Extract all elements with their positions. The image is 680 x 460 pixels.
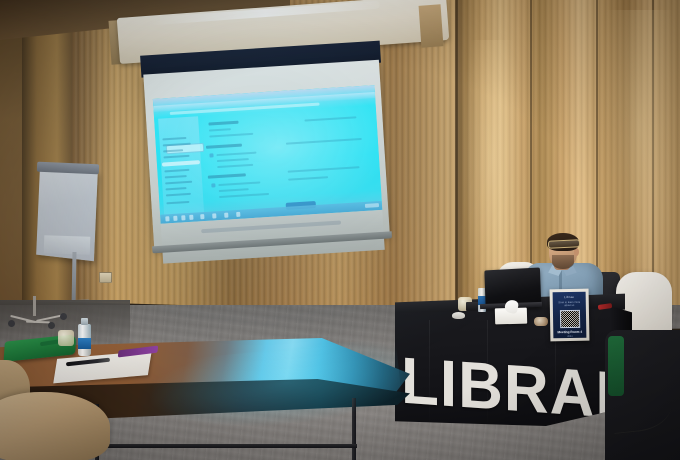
- candy-bowl: [534, 317, 548, 326]
- chair-base-arm: [26, 321, 50, 324]
- booth-banner-text: LIBRAE: [401, 349, 616, 430]
- checkbox[interactable]: [211, 183, 215, 187]
- qr-code-icon[interactable]: [559, 310, 579, 329]
- taskbar-app-icon[interactable]: [212, 213, 216, 218]
- qr-code-sign: Librae Scan to learn more about us Meeti…: [550, 289, 590, 342]
- eyeglasses-icon: [548, 239, 580, 249]
- conference-room-photo: LIBRAE Librae Scan to learn more about u…: [0, 0, 680, 460]
- chair-green-accent: [608, 336, 624, 396]
- qr-sign-face: Librae Scan to learn more about us Meeti…: [553, 292, 587, 339]
- computer-mouse[interactable]: [452, 312, 465, 319]
- table-rail: [95, 444, 357, 448]
- flipchart-sheet-fold: [44, 235, 91, 255]
- qr-sign-footer: 2024: [567, 335, 572, 338]
- chair-caster: [60, 313, 67, 320]
- taskbar-app-icon[interactable]: [200, 214, 204, 219]
- projection-screen: [140, 41, 392, 251]
- glass-jar: [58, 330, 74, 346]
- checkbox[interactable]: [209, 153, 213, 157]
- chair-caster: [8, 320, 15, 327]
- qr-sign-brand: Librae: [564, 295, 574, 299]
- presenter-beard: [552, 255, 574, 269]
- wall-power-socket[interactable]: [99, 272, 112, 283]
- qr-sign-caption: Meeting Room 4: [557, 330, 582, 334]
- chair-caster: [48, 322, 55, 329]
- taskbar-app-icon[interactable]: [173, 216, 177, 221]
- bottle-label: [78, 338, 91, 349]
- qr-sign-subtitle: Scan to learn more about us: [555, 301, 583, 308]
- screen-faint-text: [201, 220, 341, 233]
- taskbar-app-icon[interactable]: [189, 215, 193, 220]
- taskbar-clock[interactable]: [365, 203, 379, 208]
- taskbar-start-icon[interactable]: [165, 216, 169, 221]
- office-chair-base: [8, 312, 68, 326]
- taskbar-app-icon[interactable]: [236, 212, 240, 217]
- projected-image: [153, 85, 382, 224]
- screen-fabric: [143, 60, 390, 249]
- water-bottle: [78, 318, 91, 356]
- taskbar-app-icon[interactable]: [224, 213, 228, 218]
- table-leg: [352, 398, 356, 460]
- screen-housing-end-cap: [419, 4, 444, 47]
- bottle-cap: [81, 318, 88, 325]
- taskbar-app-icon[interactable]: [181, 215, 185, 220]
